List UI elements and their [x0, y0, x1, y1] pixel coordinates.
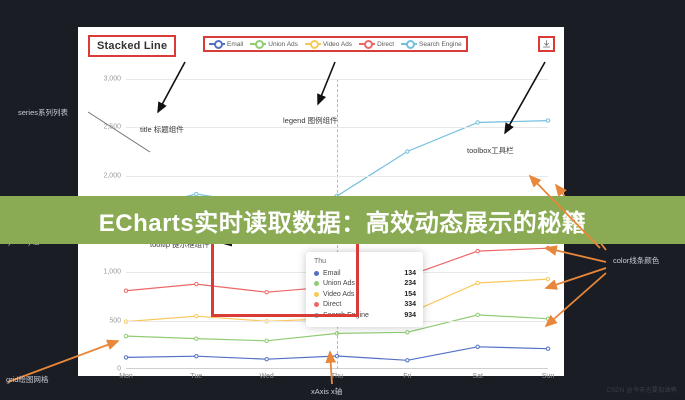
legend-label: Email	[227, 41, 243, 48]
article-banner: ECharts实时读取数据：高效动态展示的秘籍	[0, 196, 685, 244]
annotation-label-color: color线条颜色	[613, 255, 659, 266]
legend-label: Video Ads	[323, 41, 352, 48]
series-data-point	[195, 315, 198, 318]
series-data-point	[476, 281, 479, 284]
grid-line	[126, 176, 548, 177]
legend-marker-icon	[250, 40, 266, 48]
series-data-point	[124, 334, 127, 337]
series-data-point	[476, 345, 479, 348]
series-data-point	[124, 289, 127, 292]
grid-line	[126, 127, 548, 128]
watermark: CSDN @今天也要加油鸭	[606, 385, 677, 394]
series-data-point	[406, 331, 409, 334]
series-data-point	[195, 337, 198, 340]
download-icon	[542, 40, 551, 49]
series-data-point	[195, 282, 198, 285]
annotation-label-legend: legend 图例组件	[283, 115, 338, 126]
y-axis-tick-label: 3,000	[103, 76, 121, 83]
legend-marker-icon	[209, 40, 225, 48]
y-axis-tick-label: 2,000	[103, 172, 121, 179]
banner-title: ECharts实时读取数据：高效动态展示的秘籍	[99, 203, 587, 238]
y-axis-tick-label: 500	[109, 317, 121, 324]
series-data-point	[546, 119, 549, 122]
series-data-point	[476, 249, 479, 252]
legend-marker-icon	[305, 40, 321, 48]
legend-marker-icon	[359, 40, 375, 48]
legend-item-email[interactable]: Email	[209, 40, 243, 48]
tooltip-series-value: 934	[404, 312, 416, 319]
annotation-label-toolbox: toolbox工具栏	[467, 145, 514, 156]
legend-label: Union Ads	[268, 41, 298, 48]
grid-line	[126, 79, 548, 80]
chart-title: Stacked Line	[88, 35, 176, 57]
legend-label: Direct	[377, 41, 394, 48]
annotation-label-xaxis: xAxis x轴	[311, 386, 342, 397]
tooltip-series-value: 134	[404, 270, 416, 277]
x-axis-tick-label: Tue	[190, 373, 202, 380]
y-axis-tick-label: 2,500	[103, 124, 121, 131]
series-data-point	[476, 313, 479, 316]
legend-item-direct[interactable]: Direct	[359, 40, 394, 48]
series-data-point	[265, 339, 268, 342]
x-axis-tick-label: Thu	[331, 373, 343, 380]
series-data-point	[546, 246, 549, 249]
toolbox-download-button[interactable]	[538, 36, 555, 52]
chart-legend[interactable]: EmailUnion AdsVideo AdsDirectSearch Engi…	[203, 36, 468, 52]
series-data-point	[265, 358, 268, 361]
legend-marker-icon	[401, 40, 417, 48]
y-axis-tick-label: 0	[117, 366, 121, 373]
tooltip-series-value: 154	[404, 291, 416, 298]
legend-label: Search Engine	[419, 41, 462, 48]
series-data-point	[546, 347, 549, 350]
x-axis-tick-label: Fri	[403, 373, 411, 380]
series-data-point	[406, 150, 409, 153]
legend-item-union-ads[interactable]: Union Ads	[250, 40, 298, 48]
series-data-point	[476, 121, 479, 124]
annotation-label-series: series系列列表	[18, 107, 68, 118]
annotation-label-title: title 标题组件	[140, 124, 184, 135]
tooltip-series-value: 334	[404, 301, 416, 308]
x-axis-tick-label: Sat	[472, 373, 483, 380]
y-axis-tick-label: 1,000	[103, 269, 121, 276]
series-data-point	[546, 277, 549, 280]
legend-item-video-ads[interactable]: Video Ads	[305, 40, 352, 48]
x-axis-tick-label: Sun	[542, 373, 554, 380]
legend-item-search-engine[interactable]: Search Engine	[401, 40, 462, 48]
tooltip-series-value: 234	[404, 280, 416, 287]
x-axis-tick-label: Wed	[260, 373, 274, 380]
x-axis-tick-label: Mon	[119, 373, 133, 380]
annotation-label-grid: grid绘图网格	[6, 374, 49, 385]
series-data-point	[406, 359, 409, 362]
series-data-point	[195, 355, 198, 358]
series-data-point	[124, 356, 127, 359]
